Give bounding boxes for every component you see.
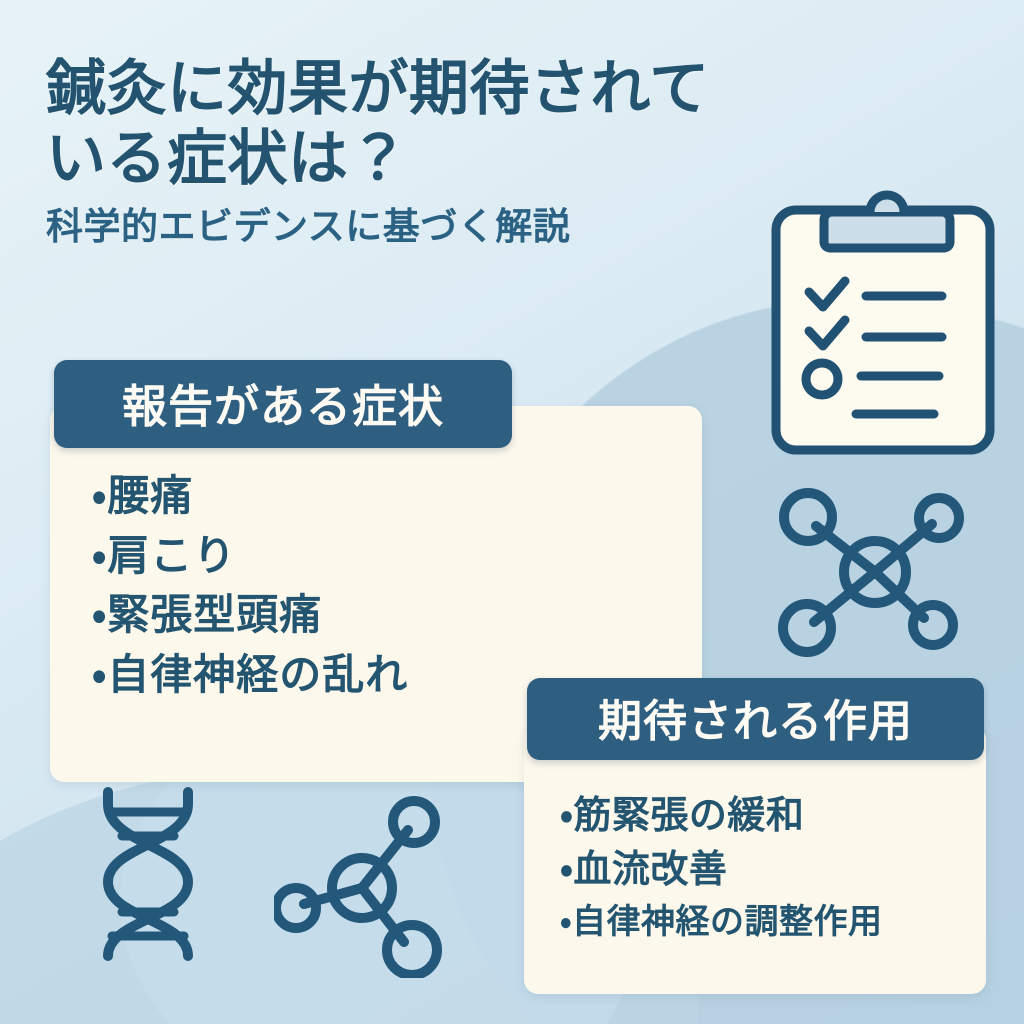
symptoms-card-badge: 報告がある症状 (54, 360, 512, 448)
infographic-canvas: 鍼灸に効果が期待されている症状は？ 科学的エビデンスに基づく解説 (0, 0, 1024, 1024)
symptoms-badge-label: 報告がある症状 (122, 370, 444, 439)
list-item: ・自律神経の調整作用 (560, 898, 980, 946)
header: 鍼灸に効果が期待されている症状は？ 科学的エビデンスに基づく解説 (46, 54, 746, 250)
molecule-icon (772, 484, 978, 660)
page-subtitle: 科学的エビデンスに基づく解説 (46, 205, 746, 249)
effects-badge-label: 期待される作用 (598, 685, 913, 753)
list-item: ・筋緊張の緩和 (560, 790, 980, 844)
list-item: ・血流改善 (560, 844, 980, 898)
page-title: 鍼灸に効果が期待されている症状は？ (46, 54, 746, 193)
dna-helix-icon (78, 786, 218, 962)
molecule-icon (274, 792, 460, 978)
list-item: ・肩こり (92, 526, 652, 586)
symptoms-list: ・腰痛 ・肩こり ・緊張型頭痛 ・自律神経の乱れ (92, 466, 652, 705)
list-item: ・緊張型頭痛 (92, 585, 652, 645)
list-item: ・腰痛 (92, 466, 652, 526)
effects-list: ・筋緊張の緩和 ・血流改善 ・自律神経の調整作用 (560, 790, 980, 946)
clipboard-checklist-icon (762, 182, 1012, 460)
effects-card-badge: 期待される作用 (527, 678, 984, 760)
